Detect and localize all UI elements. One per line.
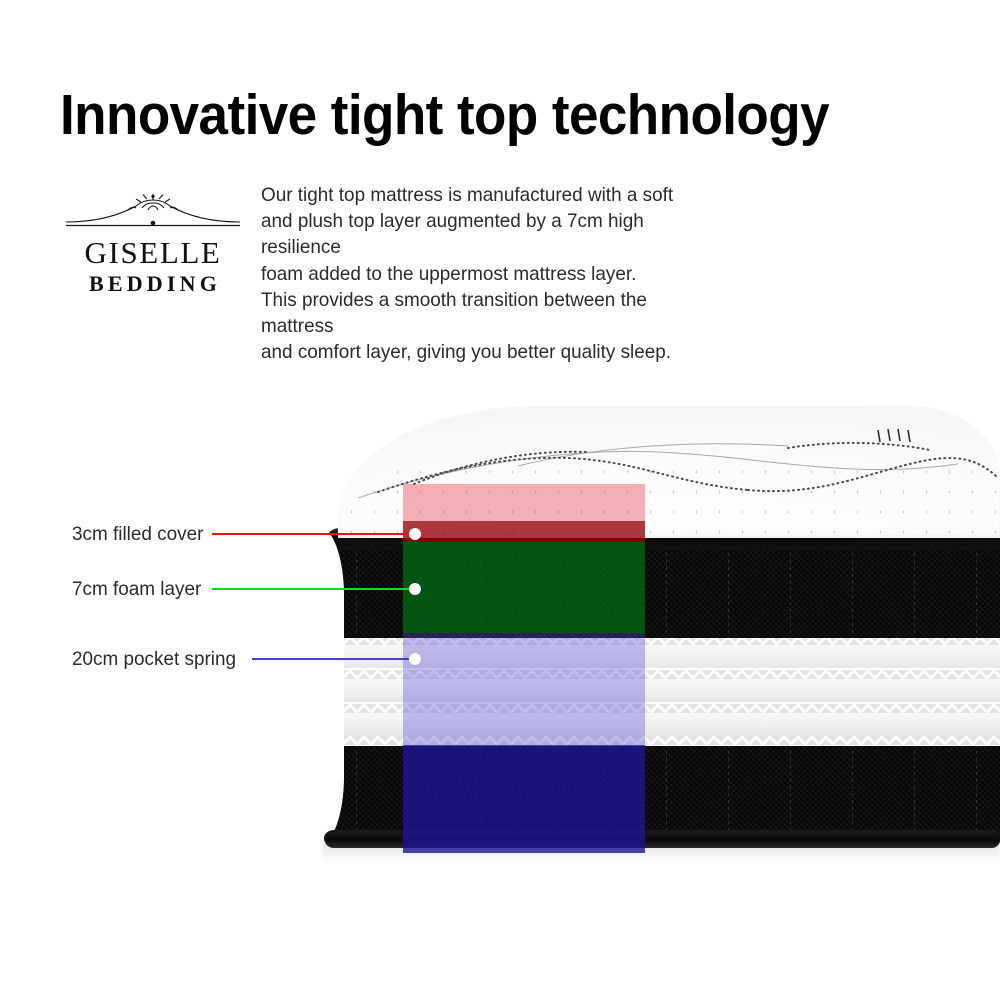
brand-name: GISELLE — [62, 236, 244, 270]
brand-logo: GISELLE BEDDING — [62, 192, 244, 297]
page-title: Innovative tight top technology — [60, 84, 897, 146]
ornamental-arch-crest-icon — [62, 192, 244, 234]
layer-overlay-pocket-spring-dark — [403, 745, 645, 853]
description-line-3: foam added to the uppermost mattress lay… — [261, 261, 717, 287]
crest-dot-icon — [151, 221, 156, 226]
description-line-4: This provides a smooth transition betwee… — [261, 287, 717, 339]
leader-line-pocket-spring — [252, 658, 418, 660]
leader-line-foam-layer — [212, 588, 418, 590]
crest-top-dot-icon — [151, 195, 154, 198]
callout-label-filled-cover: 3cm filled cover — [72, 523, 203, 546]
mattress-left-profile — [318, 526, 344, 846]
brand-subtitle: BEDDING — [62, 271, 244, 297]
leader-dot-pocket-spring — [409, 653, 421, 665]
leader-dot-foam-layer — [409, 583, 421, 595]
callout-label-pocket-spring: 20cm pocket spring — [72, 648, 236, 671]
leader-line-filled-cover — [212, 533, 418, 535]
description-paragraph: Our tight top mattress is manufactured w… — [261, 182, 717, 365]
product-feature-page: Innovative tight top technology GI — [0, 0, 1000, 1000]
layer-overlay-filled-cover — [403, 521, 645, 542]
leader-dot-filled-cover — [409, 528, 421, 540]
description-line-2: and plush top layer augmented by a 7cm h… — [261, 208, 717, 260]
layer-overlay-foam — [403, 542, 645, 633]
layer-overlay-pocket-spring-light — [403, 633, 645, 745]
callout-label-foam-layer: 7cm foam layer — [72, 578, 201, 601]
layer-overlay-filled-cover-highlight — [403, 484, 645, 521]
description-line-5: and comfort layer, giving you better qua… — [261, 339, 717, 365]
description-line-1: Our tight top mattress is manufactured w… — [261, 182, 717, 208]
